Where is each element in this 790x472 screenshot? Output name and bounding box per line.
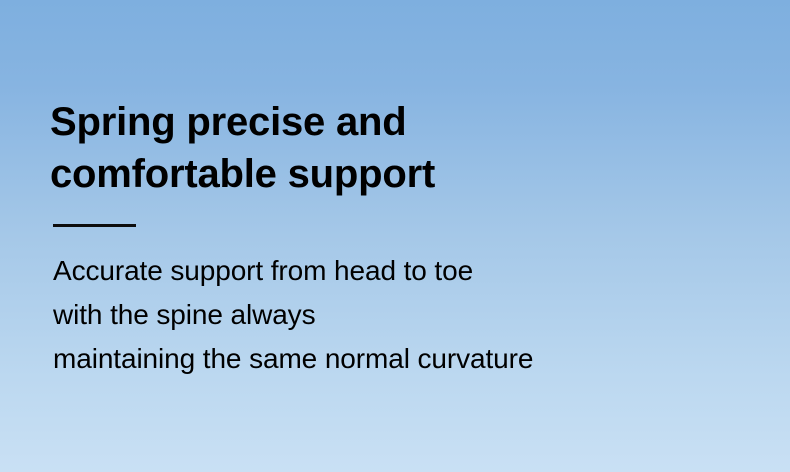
page-title: Spring precise and comfortable support	[50, 96, 750, 200]
banner-content: Spring precise and comfortable support A…	[50, 96, 750, 381]
banner-description: Accurate support from head to toe with t…	[53, 249, 750, 381]
description-line: with the spine always	[53, 293, 750, 337]
description-line: maintaining the same normal curvature	[53, 337, 750, 381]
description-line: Accurate support from head to toe	[53, 249, 750, 293]
promo-banner: Spring precise and comfortable support A…	[0, 0, 790, 472]
title-divider	[53, 224, 136, 227]
